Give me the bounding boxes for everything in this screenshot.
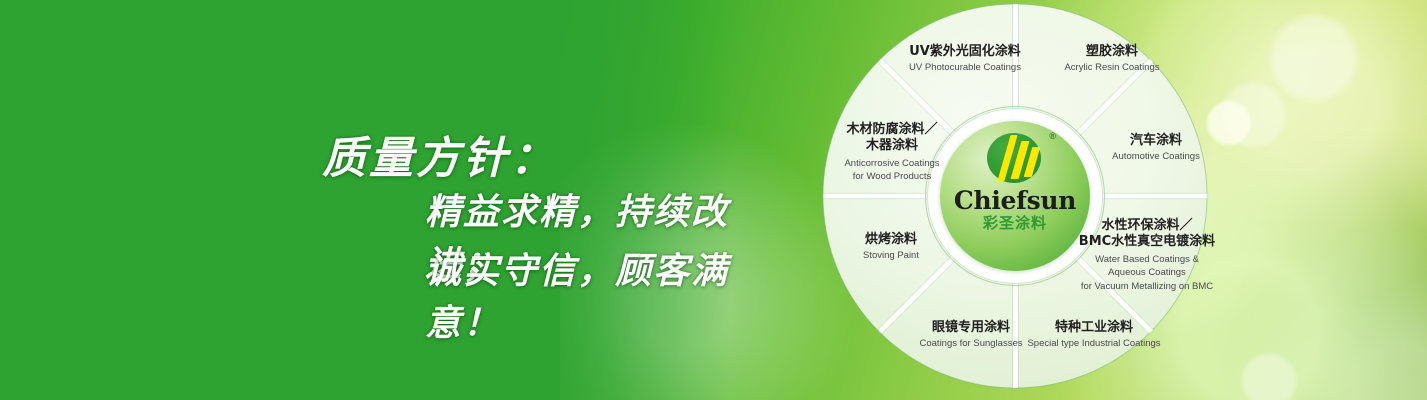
slogan-heading: 质量方针：	[322, 122, 557, 186]
slogan-block: 质量方针： 精益求精，持续改进； 诚实守信，顾客满意！	[0, 0, 800, 400]
sector-label-stoving-paint: 烘烤涂料 Stoving Paint	[832, 232, 950, 262]
sector-cn-acrylic: 塑胶涂料	[1032, 44, 1192, 60]
registered-trademark-icon: ®	[1049, 131, 1056, 141]
sector-en-uv: UV Photocurable Coatings	[880, 62, 1050, 74]
sector-cn-sunglasses: 眼镜专用涂料	[896, 320, 1046, 336]
slogan-line-2: 诚实守信，顾客满意！	[425, 242, 800, 346]
sector-cn-stoving: 烘烤涂料	[832, 232, 950, 248]
sector-label-sunglasses: 眼镜专用涂料 Coatings for Sunglasses	[896, 320, 1046, 350]
sector-en-automotive: Automotive Coatings	[1086, 151, 1226, 163]
sector-label-automotive: 汽车涂料 Automotive Coatings	[1086, 133, 1226, 163]
sector-cn-uv: UV紫外光固化涂料	[880, 44, 1050, 60]
sector-cn-automotive: 汽车涂料	[1086, 133, 1226, 149]
logo-chinese-name: 彩圣涂料	[983, 216, 1047, 231]
sector-en-water-based: Water Based Coatings & Aqueous Coatings …	[1062, 253, 1232, 294]
sector-cn-water-based: 水性环保涂料／ BMC水性真空电镀涂料	[1062, 218, 1232, 251]
sector-label-uv-photocurable: UV紫外光固化涂料 UV Photocurable Coatings	[880, 44, 1050, 74]
sector-en-stoving: Stoving Paint	[832, 250, 950, 262]
sector-en-acrylic: Acrylic Resin Coatings	[1032, 62, 1192, 74]
banner-stage: 质量方针： 精益求精，持续改进； 诚实守信，顾客满意！ ® Chiefsun 彩…	[0, 0, 1427, 400]
sector-cn-wood: 木材防腐涂料／ 木器涂料	[828, 122, 956, 155]
sector-label-wood-anticorrosive: 木材防腐涂料／ 木器涂料 Anticorrosive Coatings for …	[828, 122, 956, 184]
sector-en-wood: Anticorrosive Coatings for Wood Products	[828, 157, 956, 185]
sector-en-sunglasses: Coatings for Sunglasses	[896, 338, 1046, 350]
sector-label-acrylic-resin: 塑胶涂料 Acrylic Resin Coatings	[1032, 44, 1192, 74]
sector-label-water-based: 水性环保涂料／ BMC水性真空电镀涂料 Water Based Coatings…	[1062, 218, 1232, 294]
logo-english-name: Chiefsun	[954, 188, 1076, 213]
chiefsun-logo-mark-icon: ®	[978, 131, 1052, 187]
